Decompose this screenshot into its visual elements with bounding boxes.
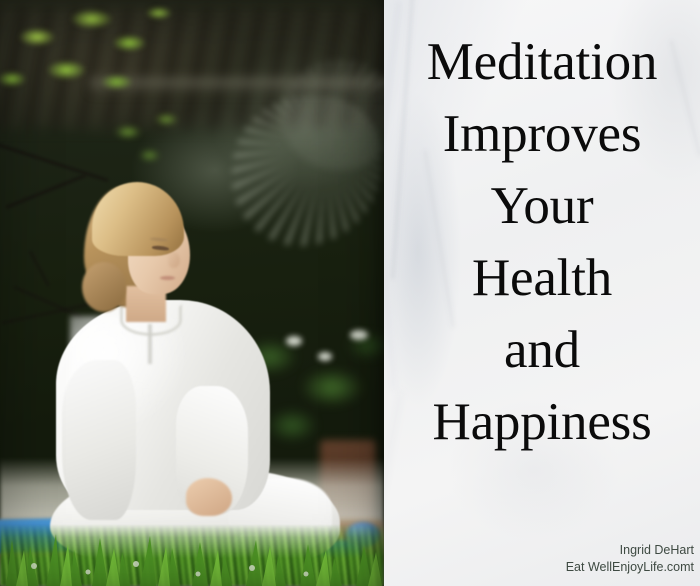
woman-left-arm [62, 360, 136, 520]
headline-line: Your [384, 170, 700, 242]
grass-blades-icon [0, 516, 384, 586]
meditation-poster: Meditation Improves Your Health and Happ… [0, 0, 700, 586]
woman-hands [186, 478, 232, 516]
author-name: Ingrid DeHart [566, 542, 694, 559]
text-panel: Meditation Improves Your Health and Happ… [384, 0, 700, 586]
attribution: Ingrid DeHart Eat WellEnjoyLife.comt [566, 542, 694, 576]
headline-line: Happiness [384, 386, 700, 458]
meditating-woman [0, 0, 384, 586]
woman-hair-bun [82, 262, 126, 312]
headline-line: Improves [384, 98, 700, 170]
woman-mouth [160, 276, 175, 280]
headline-line: Meditation [384, 26, 700, 98]
page-title: Meditation Improves Your Health and Happ… [384, 26, 700, 458]
website-url[interactable]: Eat WellEnjoyLife.comt [566, 559, 694, 576]
headline-line: Health [384, 242, 700, 314]
photo-panel [0, 0, 384, 586]
shirt-placket [148, 324, 152, 364]
woman-nose [168, 252, 180, 268]
headline-line: and [384, 314, 700, 386]
